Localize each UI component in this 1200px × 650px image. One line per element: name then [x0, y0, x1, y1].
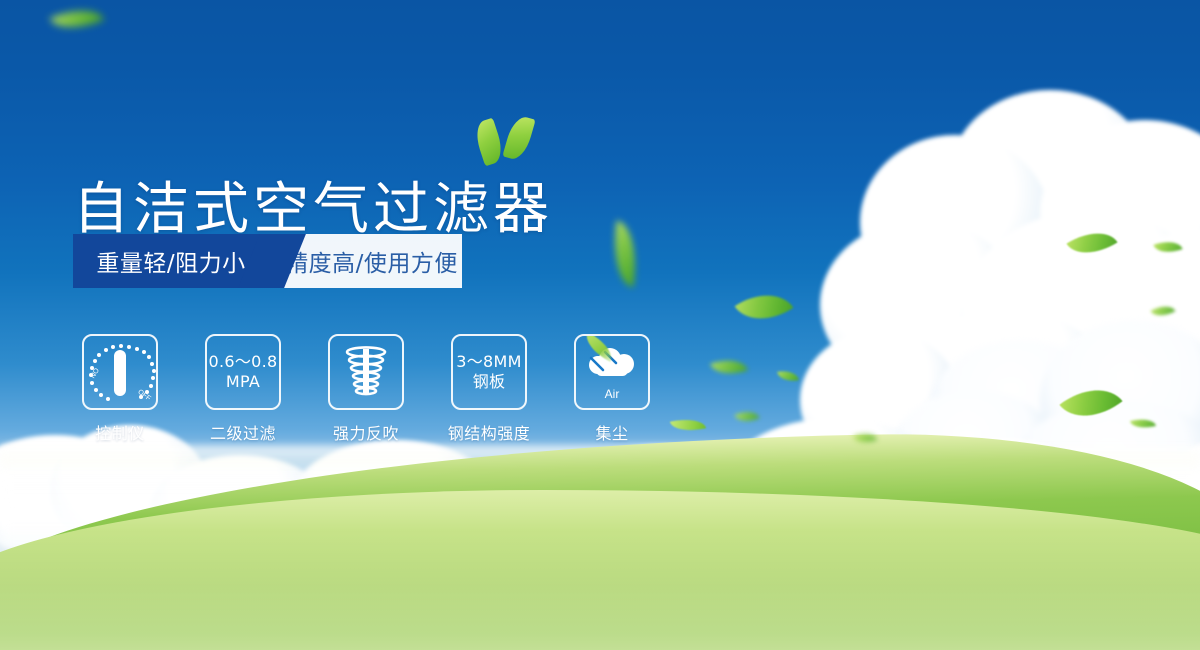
filter-coil-icon	[328, 334, 404, 410]
grass-highlight	[0, 530, 1200, 650]
subtitle-bar: 重量轻/阻力小 精度高/使用方便	[73, 234, 462, 288]
feature-item-control-gauge[interactable]: NO OFF 控制仪	[73, 334, 167, 444]
grass-field	[0, 420, 1200, 650]
feature-label: 集尘	[595, 420, 628, 444]
gauge-off-label: OFF	[136, 389, 151, 403]
feature-item-dust-collection[interactable]: Air 集尘	[565, 334, 659, 444]
feature-item-steel[interactable]: 3～8MM 钢板 钢结构强度	[442, 334, 536, 444]
feature-box-text: 3～8MM 钢板	[456, 352, 521, 392]
subtitle-left-tag: 重量轻/阻力小	[73, 234, 269, 288]
feature-item-pressure[interactable]: 0.6～0.8 MPA 二级过滤	[196, 334, 290, 444]
sprout-leaf-right	[502, 114, 535, 162]
leaf-icon	[777, 368, 799, 383]
feature-item-backblow[interactable]: 强力反吹	[319, 334, 413, 444]
leaf-icon	[710, 353, 748, 381]
product-banner: 自洁式空气过滤器 重量轻/阻力小 精度高/使用方便	[0, 0, 1200, 650]
gauge-icon: NO OFF	[82, 334, 158, 410]
air-label: Air	[576, 387, 648, 401]
air-cloud-icon: Air	[574, 334, 650, 410]
feature-label: 二级过滤	[210, 420, 276, 444]
leaf-icon	[1066, 220, 1117, 265]
steel-plate-text-icon: 3～8MM 钢板	[451, 334, 527, 410]
gauge-needle	[114, 350, 126, 396]
leaf-icon	[1153, 236, 1182, 258]
leaf-icon	[50, 0, 105, 39]
feature-label: 钢结构强度	[448, 420, 531, 444]
page-title: 自洁式空气过滤器	[73, 182, 553, 238]
feature-box-text: 0.6～0.8 MPA	[209, 352, 278, 392]
sprout-leaf-left	[472, 118, 507, 167]
leaf-icon	[608, 221, 643, 288]
feature-label: 控制仪	[95, 420, 145, 444]
sprout-icon	[470, 110, 540, 168]
pressure-text-icon: 0.6～0.8 MPA	[205, 334, 281, 410]
feature-list: NO OFF 控制仪 0.6～0.8 MPA 二级过滤	[73, 334, 659, 444]
feature-label: 强力反吹	[333, 420, 399, 444]
leaf-icon	[735, 279, 794, 334]
leaf-icon	[1150, 301, 1175, 322]
